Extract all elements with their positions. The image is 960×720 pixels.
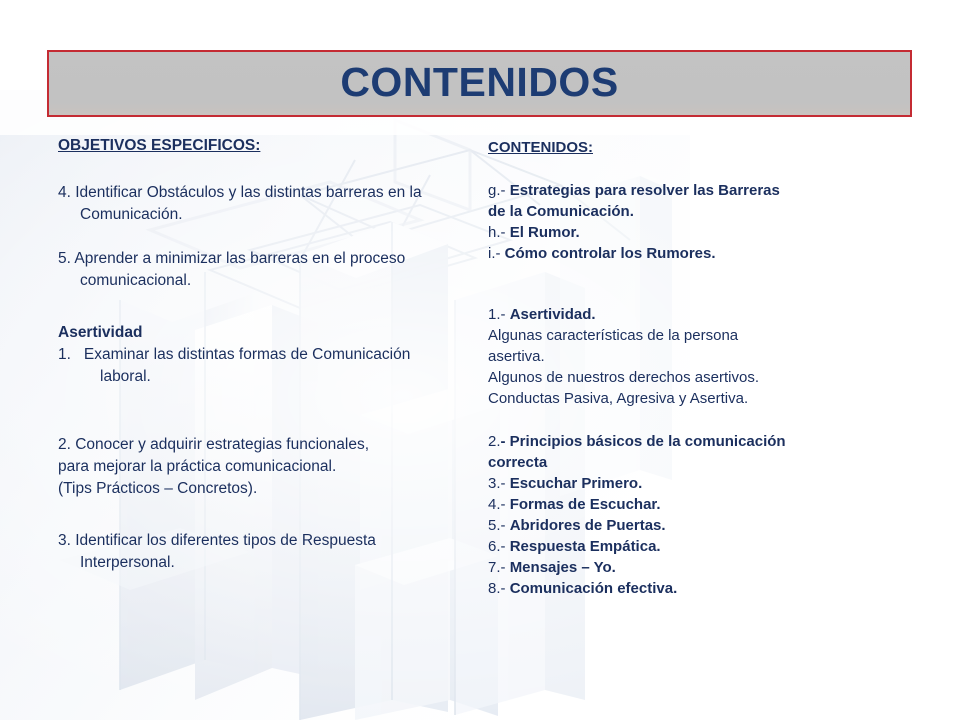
slide-title-bar: CONTENIDOS: [47, 50, 912, 117]
left-block2-line3: (Tips Prácticos – Concretos).: [58, 478, 458, 500]
contenido-item-4-text: Formas de Escuchar.: [510, 496, 661, 513]
contenido-item-i-prefix: i.-: [488, 245, 505, 262]
contenido-item-3-prefix: 3.-: [488, 475, 510, 492]
asertividad-item-1: 1. Examinar las distintas formas de Comu…: [58, 344, 458, 388]
contenido-item-h-text: El Rumor.: [510, 224, 580, 241]
contenido-item-2-prefix: 2.: [488, 433, 501, 450]
contenido-item-5: 5.- Abridores de Puertas.: [488, 515, 908, 536]
page-title: CONTENIDOS: [340, 62, 618, 103]
right-column-heading: CONTENIDOS:: [488, 138, 908, 158]
contenido-item-6: 6.- Respuesta Empática.: [488, 536, 908, 557]
contenido-item-g-line2: de la Comunicación.: [488, 201, 908, 222]
contenido-item-i-text: Cómo controlar los Rumores.: [505, 245, 716, 262]
contenido-item-7: 7.- Mensajes – Yo.: [488, 557, 908, 578]
left-column-heading: OBJETIVOS ESPECIFICOS:: [58, 136, 458, 156]
left-content-column: OBJETIVOS ESPECIFICOS: 4. Identificar Ob…: [58, 136, 458, 574]
contenido-item-g-prefix: g.-: [488, 182, 510, 199]
contenido-item-4-prefix: 4.-: [488, 496, 510, 513]
contenido-item-2-text: - Principios básicos de la comunicación: [501, 433, 786, 450]
left-block2-line2: para mejorar la práctica comunicacional.: [58, 456, 458, 478]
contenido-item-3: 3.- Escuchar Primero.: [488, 473, 908, 494]
contenido-item-1: 1.- Asertividad.: [488, 304, 908, 325]
contenido-item-3-text: Escuchar Primero.: [510, 475, 643, 492]
contenido-item-h: h.- El Rumor.: [488, 222, 908, 243]
contenido-item-5-prefix: 5.-: [488, 517, 510, 534]
contenido-item-4: 4.- Formas de Escuchar.: [488, 494, 908, 515]
contenido-item-2: 2.- Principios básicos de la comunicació…: [488, 431, 908, 452]
contenido-item-1-text: Asertividad.: [510, 306, 596, 323]
contenido-item-1-prefix: 1.-: [488, 306, 510, 323]
contenido-item-1-detail-2: asertiva.: [488, 346, 908, 367]
objective-item-5: 5. Aprender a minimizar las barreras en …: [58, 248, 458, 292]
contenido-item-1-detail-3: Algunos de nuestros derechos asertivos.: [488, 367, 908, 388]
asertividad-subheading: Asertividad: [58, 322, 458, 344]
contenido-item-8-prefix: 8.-: [488, 580, 510, 597]
presentation-slide: CONTENIDOS OBJETIVOS ESPECIFICOS: 4. Ide…: [0, 0, 960, 720]
asertividad-item-1-text: Examinar las distintas formas de Comunic…: [84, 346, 411, 385]
contenido-item-6-prefix: 6.-: [488, 538, 510, 555]
left-block2-line1: 2. Conocer y adquirir estrategias funcio…: [58, 434, 458, 456]
contenido-item-7-prefix: 7.-: [488, 559, 510, 576]
contenido-item-g: g.- Estrategias para resolver las Barrer…: [488, 180, 908, 201]
contenido-item-2-line2: correcta: [488, 452, 908, 473]
contenido-item-i: i.- Cómo controlar los Rumores.: [488, 243, 908, 264]
contenido-item-8-text: Comunicación efectiva.: [510, 580, 678, 597]
contenido-item-h-prefix: h.-: [488, 224, 510, 241]
contenido-item-6-text: Respuesta Empática.: [510, 538, 661, 555]
contenido-item-1-detail-1: Algunas características de la persona: [488, 325, 908, 346]
objective-item-4: 4. Identificar Obstáculos y las distinta…: [58, 182, 458, 226]
contenido-item-5-text: Abridores de Puertas.: [510, 517, 666, 534]
asertividad-item-1-number: 1.: [58, 346, 71, 363]
right-content-column: CONTENIDOS: g.- Estrategias para resolve…: [488, 138, 908, 599]
contenido-item-1-detail-4: Conductas Pasiva, Agresiva y Asertiva.: [488, 388, 908, 409]
contenido-item-g-text: Estrategias para resolver las Barreras: [510, 182, 780, 199]
left-block3: 3. Identificar los diferentes tipos de R…: [58, 530, 458, 574]
contenido-item-8: 8.- Comunicación efectiva.: [488, 578, 908, 599]
contenido-item-7-text: Mensajes – Yo.: [510, 559, 616, 576]
